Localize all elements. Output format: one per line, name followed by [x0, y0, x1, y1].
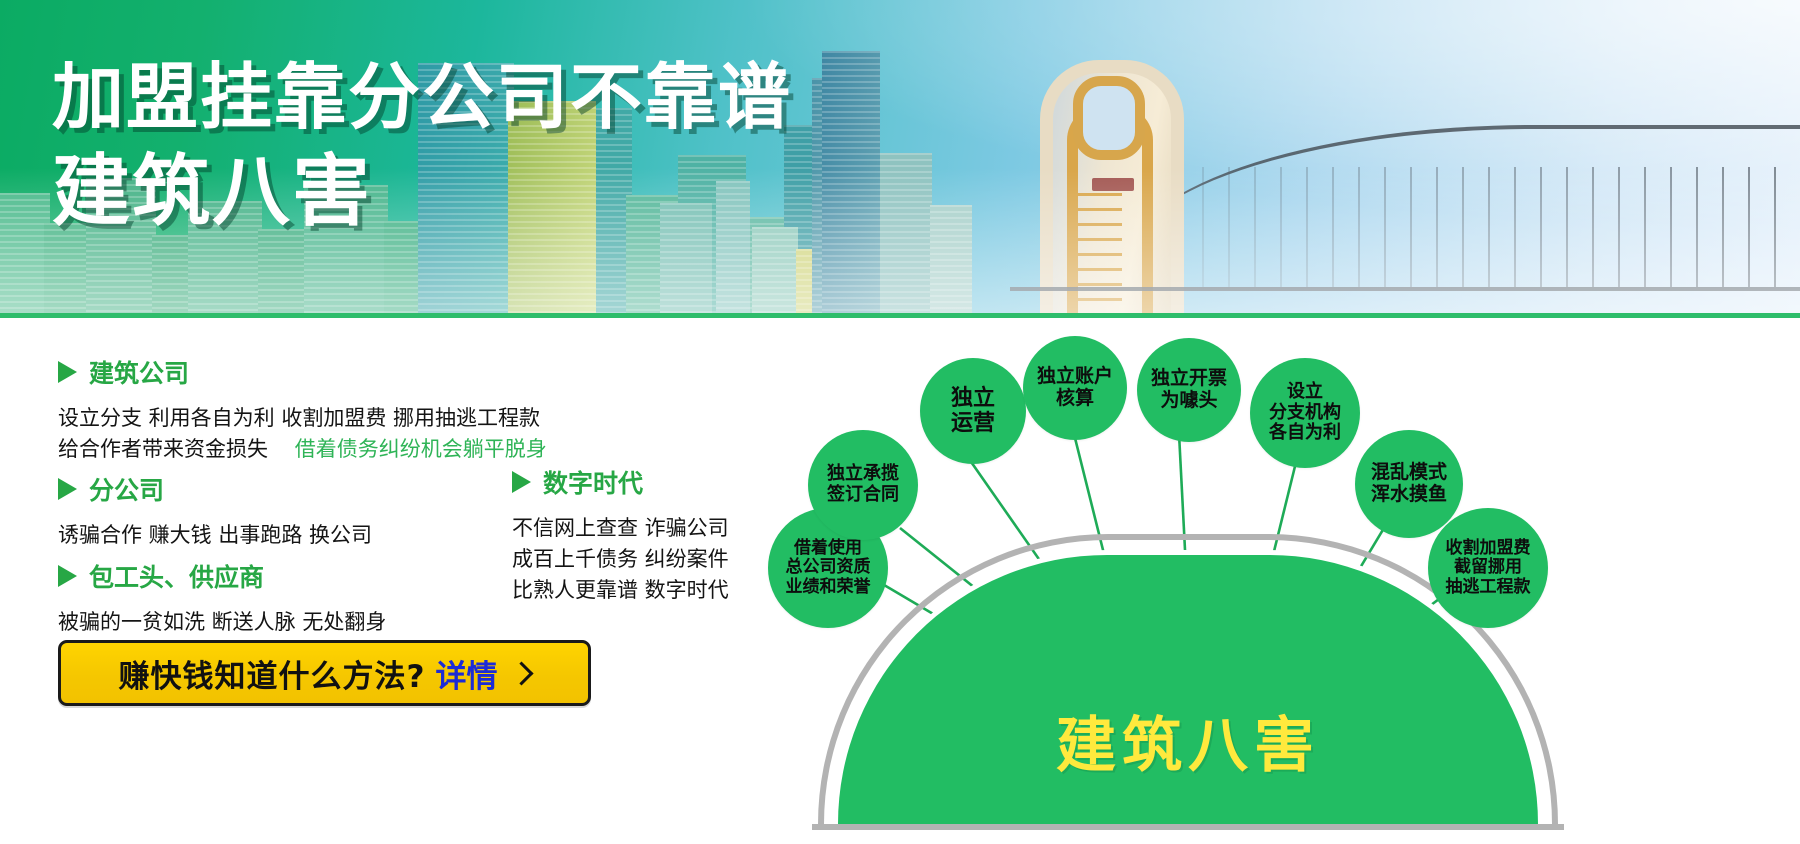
- bubble-line: 为噱头: [1145, 390, 1233, 412]
- bubble-line: 截留挪用: [1440, 558, 1537, 577]
- bubble-line: 设立: [1263, 382, 1347, 403]
- body-line: 诱骗合作 赚大钱 出事跑路 换公司: [58, 520, 372, 551]
- bubble-line: 借着使用: [780, 539, 877, 558]
- dome-center-label: 建筑八害: [818, 697, 1558, 784]
- dome-baseline: [812, 824, 1564, 830]
- section-header: 包工头、供应商: [58, 558, 386, 594]
- headline-line-1: 加盟挂靠分公司不靠谱: [52, 56, 792, 138]
- section-construction-company: 建筑公司 设立分支 利用各自为利 收割加盟费 挪用抽逃工程款 给合作者带来资金损…: [58, 354, 547, 465]
- section-contractor-supplier: 包工头、供应商 被骗的一贫如洗 断送人脉 无处翻身: [58, 558, 386, 638]
- section-body: 被骗的一贫如洗 断送人脉 无处翻身: [58, 607, 386, 638]
- bubble-line: 核算: [1031, 388, 1119, 410]
- triangle-bullet-icon: [512, 471, 531, 493]
- triangle-bullet-icon: [58, 478, 77, 500]
- triangle-bullet-icon: [58, 565, 77, 587]
- section-body: 不信网上查查 诈骗公司 成百上千债务 纠纷案件 比熟人更靠谱 数字时代: [512, 513, 729, 606]
- bubble-set-up-branch[interactable]: 设立 分支机构 各自为利: [1250, 358, 1360, 468]
- bubble-independent-invoicing[interactable]: 独立开票 为噱头: [1137, 338, 1241, 442]
- bubble-line: 签订合同: [821, 485, 905, 506]
- bubble-independent-account[interactable]: 独立账户 核算: [1023, 336, 1127, 440]
- chevron-right-icon: [510, 661, 534, 685]
- body-line: 给合作者带来资金损失 借着债务纠纷机会躺平脱身: [58, 434, 547, 465]
- hero-headline: 加盟挂靠分公司不靠谱 建筑八害: [52, 56, 792, 238]
- bubble-line: 独立: [945, 386, 1001, 411]
- bubble-line: 浑水摸鱼: [1365, 484, 1453, 506]
- section-branch-company: 分公司 诱骗合作 赚大钱 出事跑路 换公司: [58, 471, 372, 551]
- cta-button[interactable]: 赚快钱知道什么方法? 详情: [58, 640, 591, 706]
- body-line-text: 给合作者带来资金损失: [58, 437, 268, 461]
- bubble-independent-operation[interactable]: 独立 运营: [920, 358, 1026, 464]
- section-header: 分公司: [58, 471, 372, 507]
- cta-label: 赚快钱知道什么方法?: [119, 651, 426, 696]
- bubble-independent-contracting[interactable]: 独立承揽 签订合同: [808, 430, 918, 540]
- eight-harms-diagram: 建筑八害 借着使用 总公司资质 业绩和荣誉 独立承揽 签订合同 独立 运营 独立…: [790, 318, 1800, 844]
- headline-line-2: 建筑八害: [52, 146, 792, 238]
- bubble-line: 混乱模式: [1365, 462, 1453, 484]
- triangle-bullet-icon: [58, 361, 77, 383]
- section-header: 数字时代: [512, 464, 729, 500]
- body-line: 设立分支 利用各自为利 收割加盟费 挪用抽逃工程款: [58, 403, 547, 434]
- bubble-line: 分支机构: [1263, 403, 1347, 424]
- bubble-line: 独立承揽: [821, 464, 905, 485]
- bubble-line: 独立账户: [1031, 366, 1119, 388]
- bubble-chaotic-mode[interactable]: 混乱模式 浑水摸鱼: [1355, 430, 1463, 538]
- hero-image: 加盟挂靠分公司不靠谱 建筑八害: [0, 0, 1800, 318]
- body-line-accent: 借着债务纠纷机会躺平脱身: [295, 437, 547, 461]
- bubble-line: 总公司资质: [780, 558, 877, 577]
- section-body: 诱骗合作 赚大钱 出事跑路 换公司: [58, 520, 372, 551]
- section-header: 建筑公司: [58, 354, 547, 390]
- section-title: 建筑公司: [89, 354, 189, 390]
- body-line: 不信网上查查 诈骗公司: [512, 513, 729, 544]
- section-digital-era: 数字时代 不信网上查查 诈骗公司 成百上千债务 纠纷案件 比熟人更靠谱 数字时代: [512, 464, 729, 606]
- body-line: 被骗的一贫如洗 断送人脉 无处翻身: [58, 607, 386, 638]
- bubble-line: 运营: [945, 411, 1001, 436]
- section-title: 数字时代: [543, 464, 643, 500]
- bubble-line: 各自为利: [1263, 423, 1347, 444]
- section-title: 包工头、供应商: [89, 558, 264, 594]
- bubble-line: 抽逃工程款: [1440, 578, 1537, 597]
- body-line: 比熟人更靠谱 数字时代: [512, 575, 729, 606]
- bubble-harvest-franchise-fee[interactable]: 收割加盟费 截留挪用 抽逃工程款: [1428, 508, 1548, 628]
- banner-poster: 加盟挂靠分公司不靠谱 建筑八害 建筑公司 设立分支 利用各自为利 收割加盟费 挪…: [0, 0, 1800, 844]
- cta-detail-link[interactable]: 详情: [435, 651, 497, 696]
- bubble-line: 收割加盟费: [1440, 539, 1537, 558]
- bubble-line: 独立开票: [1145, 368, 1233, 390]
- section-body: 设立分支 利用各自为利 收割加盟费 挪用抽逃工程款 给合作者带来资金损失 借着债…: [58, 403, 547, 465]
- bubble-line: 业绩和荣誉: [780, 578, 877, 597]
- body-line: 成百上千债务 纠纷案件: [512, 544, 729, 575]
- bridge-pylon-aperture: [1073, 76, 1145, 160]
- section-title: 分公司: [89, 471, 164, 507]
- left-content-panel: 建筑公司 设立分支 利用各自为利 收割加盟费 挪用抽逃工程款 给合作者带来资金损…: [0, 318, 790, 844]
